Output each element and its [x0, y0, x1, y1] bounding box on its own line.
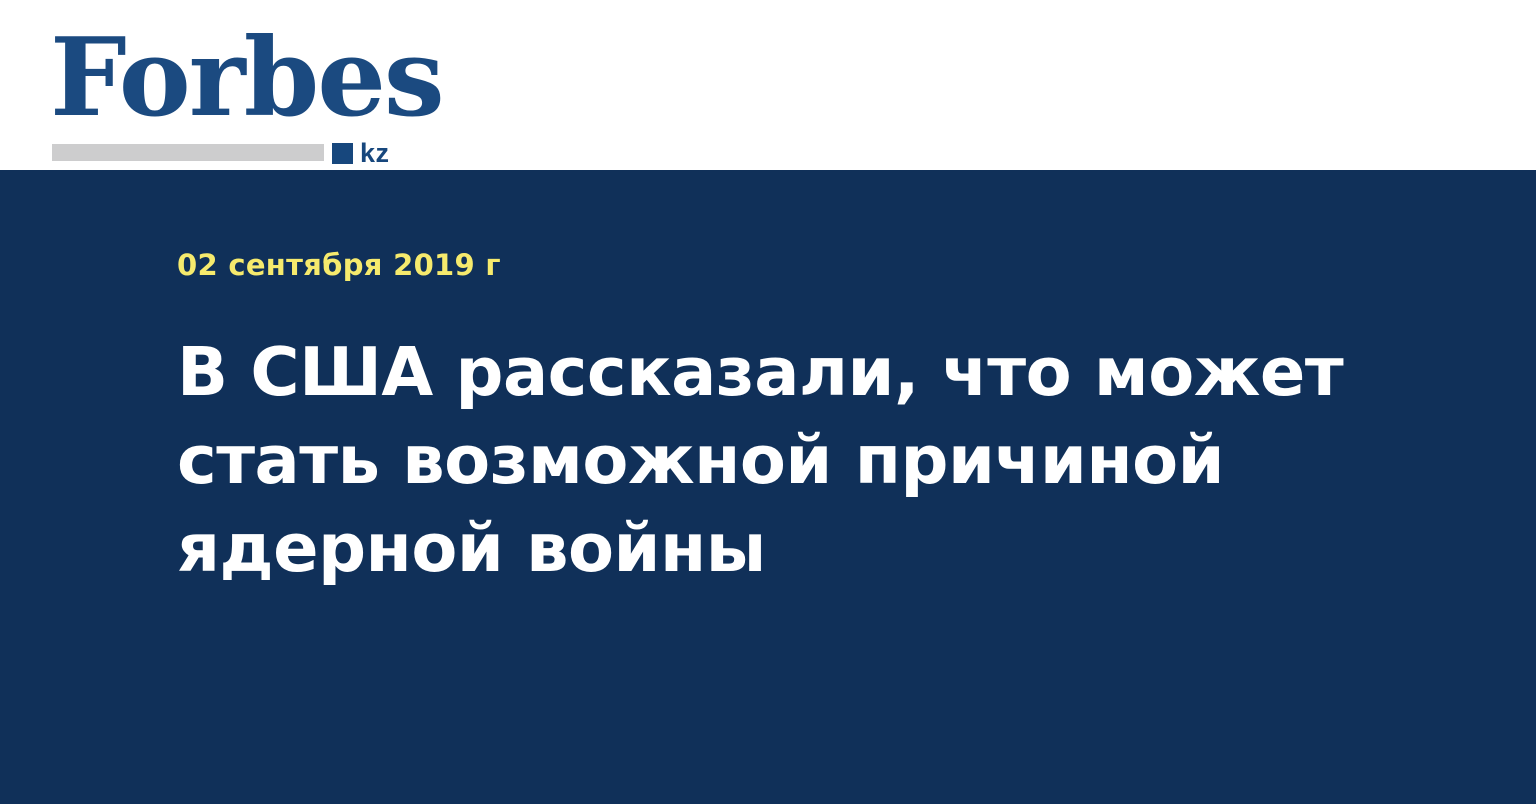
- article-hero-content: 02 сентября 2019 г В США рассказали, что…: [177, 248, 1297, 592]
- forbes-kz-logo[interactable]: Forbes kz: [50, 24, 410, 150]
- article-title-line-2: стать возможной причиной: [177, 416, 1297, 504]
- logo-kz-group: kz: [332, 142, 390, 164]
- site-header: Forbes kz: [0, 0, 1536, 170]
- article-hero: 02 сентября 2019 г В США рассказали, что…: [0, 170, 1536, 804]
- logo-wordmark-text: Forbes: [50, 24, 443, 132]
- article-card: Forbes kz 02 сентября 2019 г В США расск…: [0, 0, 1536, 804]
- article-title-line-1: В США рассказали, что может: [177, 328, 1297, 416]
- article-title-line-3: ядерной войны: [177, 504, 1297, 592]
- article-title: В США рассказали, что может стать возмож…: [177, 328, 1297, 592]
- article-date: 02 сентября 2019 г: [177, 248, 1297, 282]
- logo-underbar: [52, 144, 324, 161]
- logo-domain-suffix: kz: [360, 140, 390, 167]
- blue-square-icon: [332, 143, 353, 164]
